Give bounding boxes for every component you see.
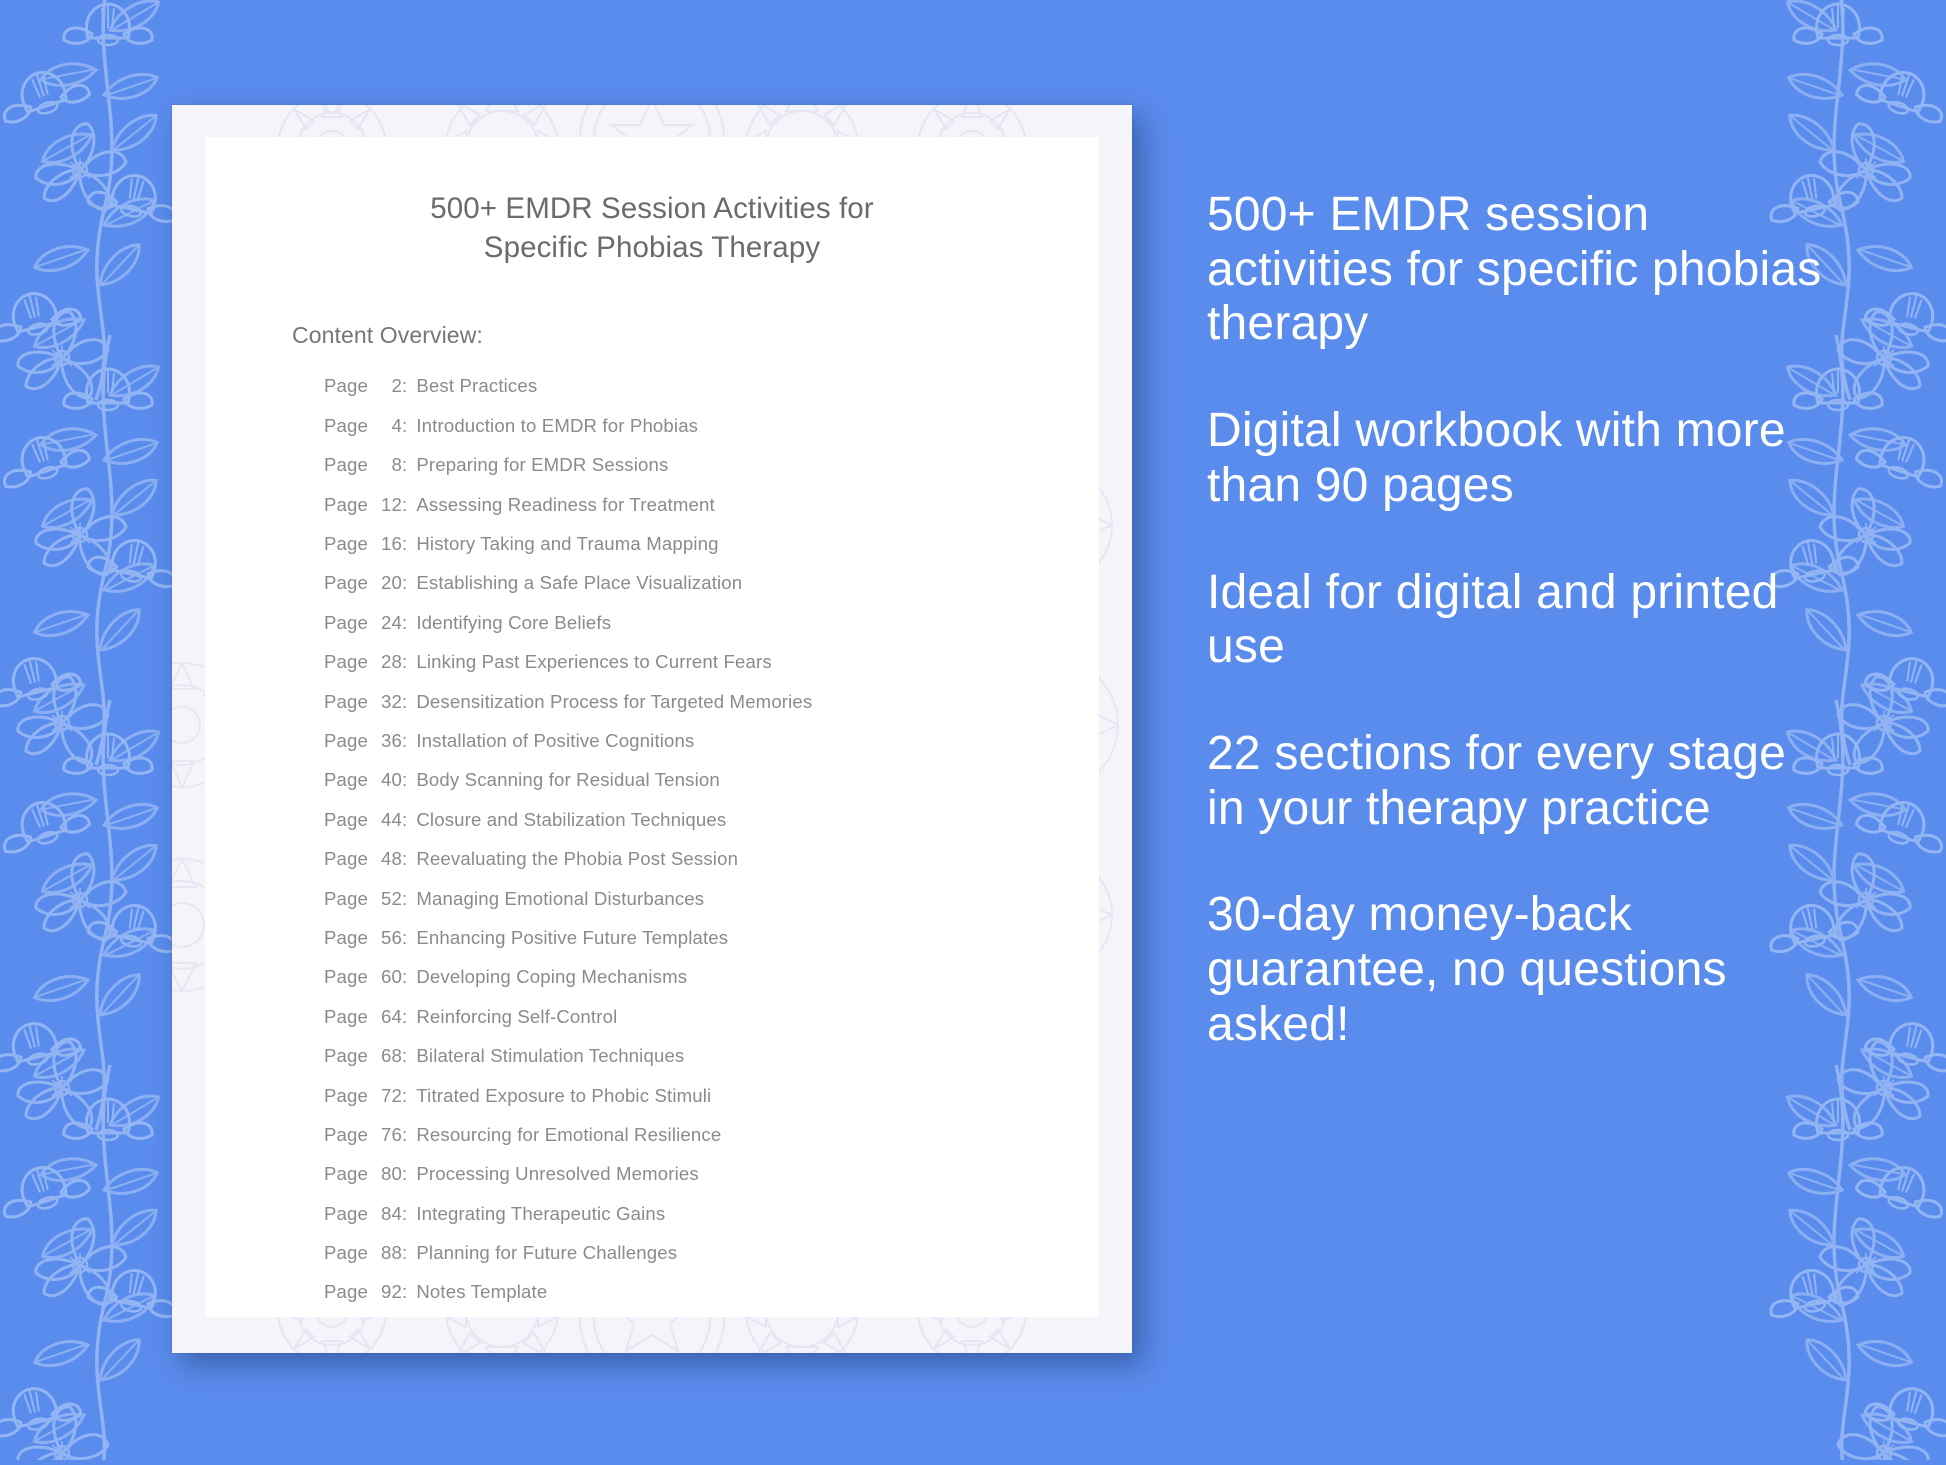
toc-entry-title: Resourcing for Emotional Resilience: [416, 1124, 721, 1146]
toc-colon: :: [402, 454, 407, 476]
marketing-paragraph: Ideal for digital and printed use: [1207, 566, 1827, 675]
toc-entry-title: Enhancing Positive Future Templates: [416, 927, 728, 949]
table-of-contents-row[interactable]: Page72:Titrated Exposure to Phobic Stimu…: [324, 1085, 1039, 1124]
toc-page-number: 40: [368, 769, 402, 791]
table-of-contents-row[interactable]: Page52:Managing Emotional Disturbances: [324, 888, 1039, 927]
table-of-contents-row[interactable]: Page24:Identifying Core Beliefs: [324, 612, 1039, 651]
toc-colon: :: [402, 769, 407, 791]
toc-page-number: 52: [368, 888, 402, 910]
toc-page-word: Page: [324, 769, 368, 791]
toc-entry-title: Integrating Therapeutic Gains: [416, 1203, 665, 1225]
table-of-contents-row[interactable]: Page32:Desensitization Process for Targe…: [324, 691, 1039, 730]
toc-colon: :: [402, 1281, 407, 1303]
page-title: 500+ EMDR Session Activities for Specifi…: [265, 189, 1039, 267]
toc-page-word: Page: [324, 927, 368, 949]
toc-page-number: 4: [368, 415, 402, 437]
table-of-contents-row[interactable]: Page64:Reinforcing Self-Control: [324, 1006, 1039, 1045]
toc-page-word: Page: [324, 612, 368, 634]
toc-page-number: 2: [368, 375, 402, 397]
toc-entry-title: Processing Unresolved Memories: [416, 1163, 698, 1185]
toc-page-word: Page: [324, 454, 368, 476]
table-of-contents-row[interactable]: Page4:Introduction to EMDR for Phobias: [324, 415, 1039, 454]
toc-page-word: Page: [324, 691, 368, 713]
table-of-contents-row[interactable]: Page48:Reevaluating the Phobia Post Sess…: [324, 848, 1039, 887]
toc-page-word: Page: [324, 966, 368, 988]
toc-entry-title: History Taking and Trauma Mapping: [416, 533, 718, 555]
toc-colon: :: [402, 691, 407, 713]
table-of-contents-row[interactable]: Page28:Linking Past Experiences to Curre…: [324, 651, 1039, 690]
toc-page-number: 44: [368, 809, 402, 831]
toc-colon: :: [402, 494, 407, 516]
toc-page-word: Page: [324, 1006, 368, 1028]
toc-entry-title: Developing Coping Mechanisms: [416, 966, 687, 988]
marketing-paragraph: 500+ EMDR session activities for specifi…: [1207, 188, 1827, 352]
toc-entry-title: Planning for Future Challenges: [416, 1242, 677, 1264]
toc-colon: :: [402, 1045, 407, 1067]
toc-page-number: 64: [368, 1006, 402, 1028]
toc-page-number: 68: [368, 1045, 402, 1067]
toc-page-number: 60: [368, 966, 402, 988]
table-of-contents-row[interactable]: Page88:Planning for Future Challenges: [324, 1242, 1039, 1281]
toc-colon: :: [402, 730, 407, 752]
toc-colon: :: [402, 1085, 407, 1107]
toc-page-word: Page: [324, 572, 368, 594]
toc-page-number: 56: [368, 927, 402, 949]
toc-entry-title: Managing Emotional Disturbances: [416, 888, 704, 910]
toc-colon: :: [402, 888, 407, 910]
toc-page-word: Page: [324, 1242, 368, 1264]
toc-page-word: Page: [324, 1124, 368, 1146]
toc-colon: :: [402, 1006, 407, 1028]
toc-entry-title: Installation of Positive Cognitions: [416, 730, 694, 752]
marketing-paragraph: Digital workbook with more than 90 pages: [1207, 404, 1827, 513]
toc-colon: :: [402, 1163, 407, 1185]
toc-page-number: 36: [368, 730, 402, 752]
table-of-contents-row[interactable]: Page16:History Taking and Trauma Mapping: [324, 533, 1039, 572]
toc-colon: :: [402, 375, 407, 397]
page-title-line-1: 500+ EMDR Session Activities for: [430, 192, 873, 225]
toc-colon: :: [402, 809, 407, 831]
toc-page-word: Page: [324, 1085, 368, 1107]
floral-border-left: [0, 0, 192, 1460]
page-title-line-2: Specific Phobias Therapy: [484, 231, 820, 264]
toc-entry-title: Reinforcing Self-Control: [416, 1006, 617, 1028]
document-card: 500+ EMDR Session Activities for Specifi…: [172, 105, 1132, 1353]
toc-page-word: Page: [324, 888, 368, 910]
floral-vine-icon: [0, 0, 192, 1460]
toc-page-word: Page: [324, 375, 368, 397]
table-of-contents-row[interactable]: Page36:Installation of Positive Cognitio…: [324, 730, 1039, 769]
toc-colon: :: [402, 415, 407, 437]
toc-page-word: Page: [324, 1203, 368, 1225]
toc-entry-title: Establishing a Safe Place Visualization: [416, 572, 742, 594]
toc-entry-title: Assessing Readiness for Treatment: [416, 494, 714, 516]
content-overview-label: Content Overview:: [292, 322, 1039, 349]
toc-page-word: Page: [324, 1281, 368, 1303]
toc-page-number: 12: [368, 494, 402, 516]
toc-page-number: 16: [368, 533, 402, 555]
toc-entry-title: Introduction to EMDR for Phobias: [416, 415, 698, 437]
toc-page-word: Page: [324, 848, 368, 870]
toc-page-number: 80: [368, 1163, 402, 1185]
toc-page-word: Page: [324, 809, 368, 831]
toc-page-number: 92: [368, 1281, 402, 1303]
table-of-contents-row[interactable]: Page60:Developing Coping Mechanisms: [324, 966, 1039, 1005]
table-of-contents-row[interactable]: Page12:Assessing Readiness for Treatment: [324, 494, 1039, 533]
toc-page-word: Page: [324, 533, 368, 555]
table-of-contents-row[interactable]: Page68:Bilateral Stimulation Techniques: [324, 1045, 1039, 1084]
table-of-contents-row[interactable]: Page84:Integrating Therapeutic Gains: [324, 1203, 1039, 1242]
toc-page-number: 32: [368, 691, 402, 713]
marketing-bullets: 500+ EMDR session activities for specifi…: [1207, 188, 1827, 1053]
toc-colon: :: [402, 1124, 407, 1146]
toc-entry-title: Best Practices: [416, 375, 537, 397]
toc-colon: :: [402, 1203, 407, 1225]
toc-entry-title: Reevaluating the Phobia Post Session: [416, 848, 738, 870]
toc-page-word: Page: [324, 730, 368, 752]
toc-entry-title: Desensitization Process for Targeted Mem…: [416, 691, 812, 713]
toc-entry-title: Notes Template: [416, 1281, 547, 1303]
toc-entry-title: Bilateral Stimulation Techniques: [416, 1045, 684, 1067]
toc-entry-title: Body Scanning for Residual Tension: [416, 769, 719, 791]
table-of-contents-row[interactable]: Page2:Best Practices: [324, 375, 1039, 414]
toc-colon: :: [402, 572, 407, 594]
toc-page-word: Page: [324, 651, 368, 673]
toc-entry-title: Closure and Stabilization Techniques: [416, 809, 726, 831]
toc-page-word: Page: [324, 1163, 368, 1185]
toc-page-number: 88: [368, 1242, 402, 1264]
toc-colon: :: [402, 533, 407, 555]
toc-page-number: 84: [368, 1203, 402, 1225]
toc-entry-title: Preparing for EMDR Sessions: [416, 454, 668, 476]
toc-colon: :: [402, 1242, 407, 1264]
document-page: 500+ EMDR Session Activities for Specifi…: [205, 137, 1099, 1317]
toc-page-word: Page: [324, 415, 368, 437]
toc-page-word: Page: [324, 1045, 368, 1067]
table-of-contents-row[interactable]: Page92:Notes Template: [324, 1281, 1039, 1320]
toc-entry-title: Linking Past Experiences to Current Fear…: [416, 651, 771, 673]
marketing-paragraph: 22 sections for every stage in your ther…: [1207, 727, 1827, 836]
toc-page-number: 48: [368, 848, 402, 870]
table-of-contents-row[interactable]: Page8:Preparing for EMDR Sessions: [324, 454, 1039, 493]
table-of-contents-row[interactable]: Page44:Closure and Stabilization Techniq…: [324, 809, 1039, 848]
table-of-contents-row[interactable]: Page76:Resourcing for Emotional Resilien…: [324, 1124, 1039, 1163]
toc-page-number: 76: [368, 1124, 402, 1146]
toc-colon: :: [402, 848, 407, 870]
toc-page-number: 28: [368, 651, 402, 673]
table-of-contents-list: Page2:Best PracticesPage4:Introduction t…: [265, 375, 1039, 1320]
toc-entry-title: Identifying Core Beliefs: [416, 612, 611, 634]
toc-page-number: 8: [368, 454, 402, 476]
toc-colon: :: [402, 651, 407, 673]
marketing-paragraph: 30-day money-back guarantee, no question…: [1207, 888, 1827, 1052]
table-of-contents-row[interactable]: Page20:Establishing a Safe Place Visuali…: [324, 572, 1039, 611]
toc-page-number: 24: [368, 612, 402, 634]
toc-colon: :: [402, 927, 407, 949]
toc-page-number: 20: [368, 572, 402, 594]
toc-page-word: Page: [324, 494, 368, 516]
table-of-contents-row[interactable]: Page40:Body Scanning for Residual Tensio…: [324, 769, 1039, 808]
table-of-contents-row[interactable]: Page80:Processing Unresolved Memories: [324, 1163, 1039, 1202]
table-of-contents-row[interactable]: Page56:Enhancing Positive Future Templat…: [324, 927, 1039, 966]
toc-page-number: 72: [368, 1085, 402, 1107]
toc-colon: :: [402, 966, 407, 988]
toc-colon: :: [402, 612, 407, 634]
toc-entry-title: Titrated Exposure to Phobic Stimuli: [416, 1085, 711, 1107]
